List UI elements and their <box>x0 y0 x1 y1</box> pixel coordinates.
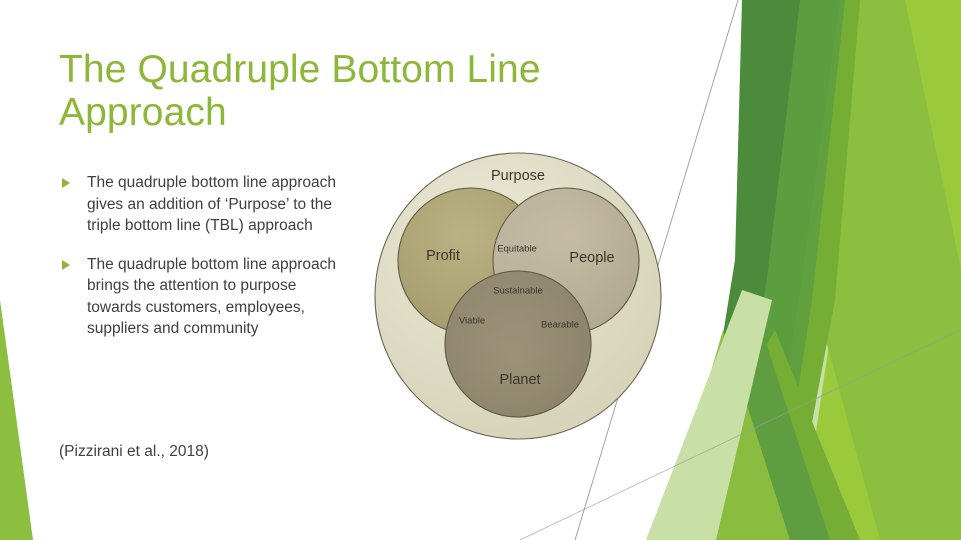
venn-label-sustainable: Sustainable <box>493 286 543 297</box>
slide-title: The Quadruple Bottom Line Approach <box>59 48 619 134</box>
venn-label-people: People <box>569 250 614 266</box>
venn-diagram: Purpose Profit People Planet Equitable V… <box>370 146 670 446</box>
venn-label-planet: Planet <box>499 372 540 388</box>
citation-text: (Pizzirani et al., 2018) <box>59 441 209 462</box>
venn-label-equitable: Equitable <box>497 244 537 255</box>
bullet-text: The quadruple bottom line approach gives… <box>87 172 349 237</box>
bullet-item: The quadruple bottom line approach gives… <box>59 172 349 237</box>
venn-label-viable: Viable <box>459 316 485 327</box>
triangle-bullet-icon <box>62 260 70 270</box>
bullet-item: The quadruple bottom line approach bring… <box>59 254 349 340</box>
bullet-list: The quadruple bottom line approach gives… <box>59 172 349 340</box>
triangle-bullet-icon <box>62 178 70 188</box>
slide-canvas: The Quadruple Bottom Line Approach The q… <box>0 0 961 540</box>
venn-label-bearable: Bearable <box>541 320 579 331</box>
venn-label-purpose: Purpose <box>491 168 545 184</box>
bullet-text: The quadruple bottom line approach bring… <box>87 254 349 340</box>
venn-label-profit: Profit <box>426 248 460 264</box>
